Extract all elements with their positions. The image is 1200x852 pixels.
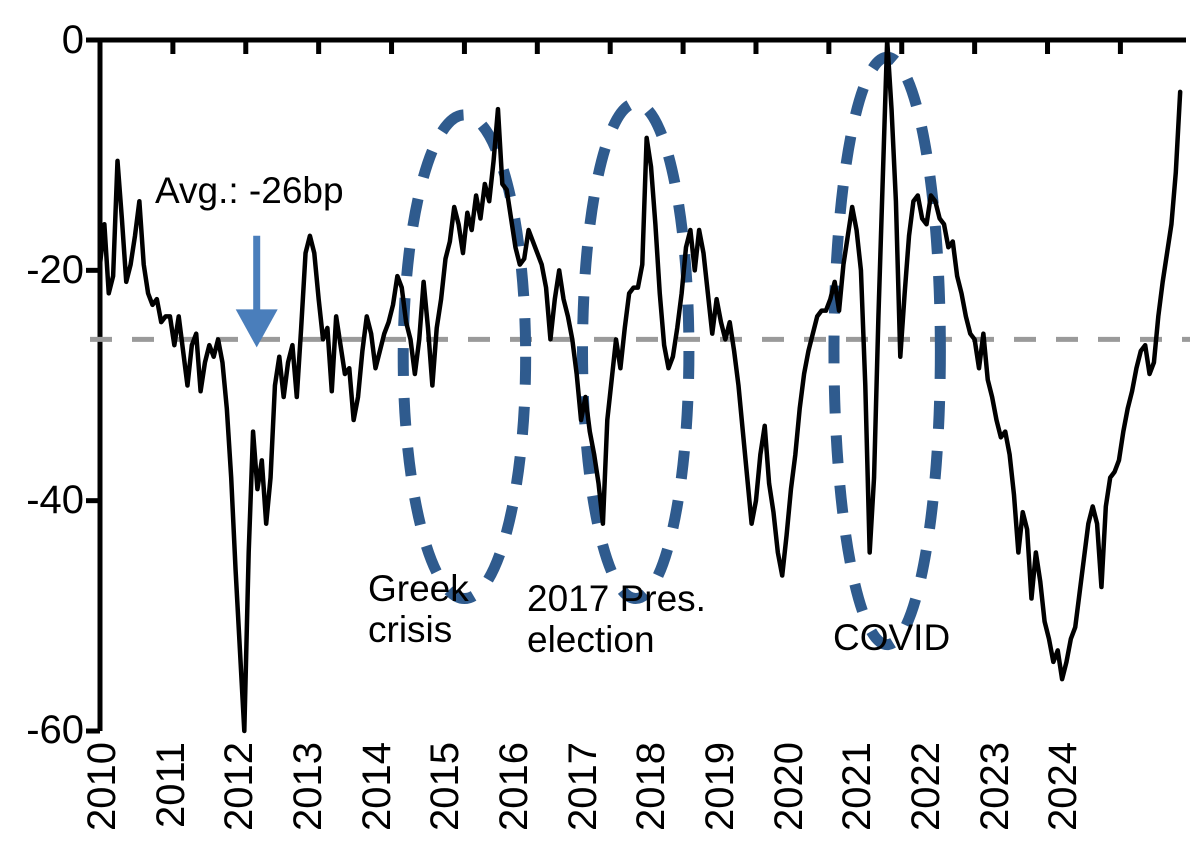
x-tick-label-2019: 2019 <box>700 742 740 831</box>
covid-annotation-label: COVID <box>833 617 950 658</box>
greek-crisis-annotation-line1: Greek <box>368 568 469 609</box>
chart-container: 0 -20 -40 -60 2010 2011 2012 2013 2014 2… <box>0 0 1200 852</box>
x-tick-label-2015: 2015 <box>425 742 465 831</box>
avg-arrow <box>236 236 278 348</box>
y-tick-label-m20: -20 <box>4 250 84 290</box>
x-tick-label-2016: 2016 <box>494 742 534 831</box>
y-tick-label-0: 0 <box>4 20 84 60</box>
x-tick-label-2010: 2010 <box>82 742 122 831</box>
election-annotation-line1: 2017 Pres. <box>527 578 706 619</box>
x-tick-label-2023: 2023 <box>975 742 1015 831</box>
y-tick-label-m40: -40 <box>4 480 84 520</box>
x-tick-label-2011: 2011 <box>151 742 191 828</box>
x-tick-label-2022: 2022 <box>906 742 946 831</box>
election-annotation-line2: election <box>527 619 655 660</box>
x-tick-label-2020: 2020 <box>769 742 809 831</box>
x-tick-label-2014: 2014 <box>357 742 397 831</box>
x-tick-label-2017: 2017 <box>563 742 603 831</box>
greek-crisis-annotation-line2: crisis <box>368 609 452 650</box>
avg-annotation-label: Avg.: -26bp <box>155 170 344 211</box>
line-chart-svg <box>0 0 1200 852</box>
x-tick-label-2021: 2021 <box>837 742 877 831</box>
x-tick-label-2012: 2012 <box>219 742 259 831</box>
covid-ellipse <box>834 57 940 644</box>
x-tick-label-2024: 2024 <box>1043 742 1083 831</box>
x-tick-label-2018: 2018 <box>631 742 671 831</box>
x-tick-label-2013: 2013 <box>288 742 328 831</box>
y-tick-label-m60: -60 <box>4 710 84 750</box>
